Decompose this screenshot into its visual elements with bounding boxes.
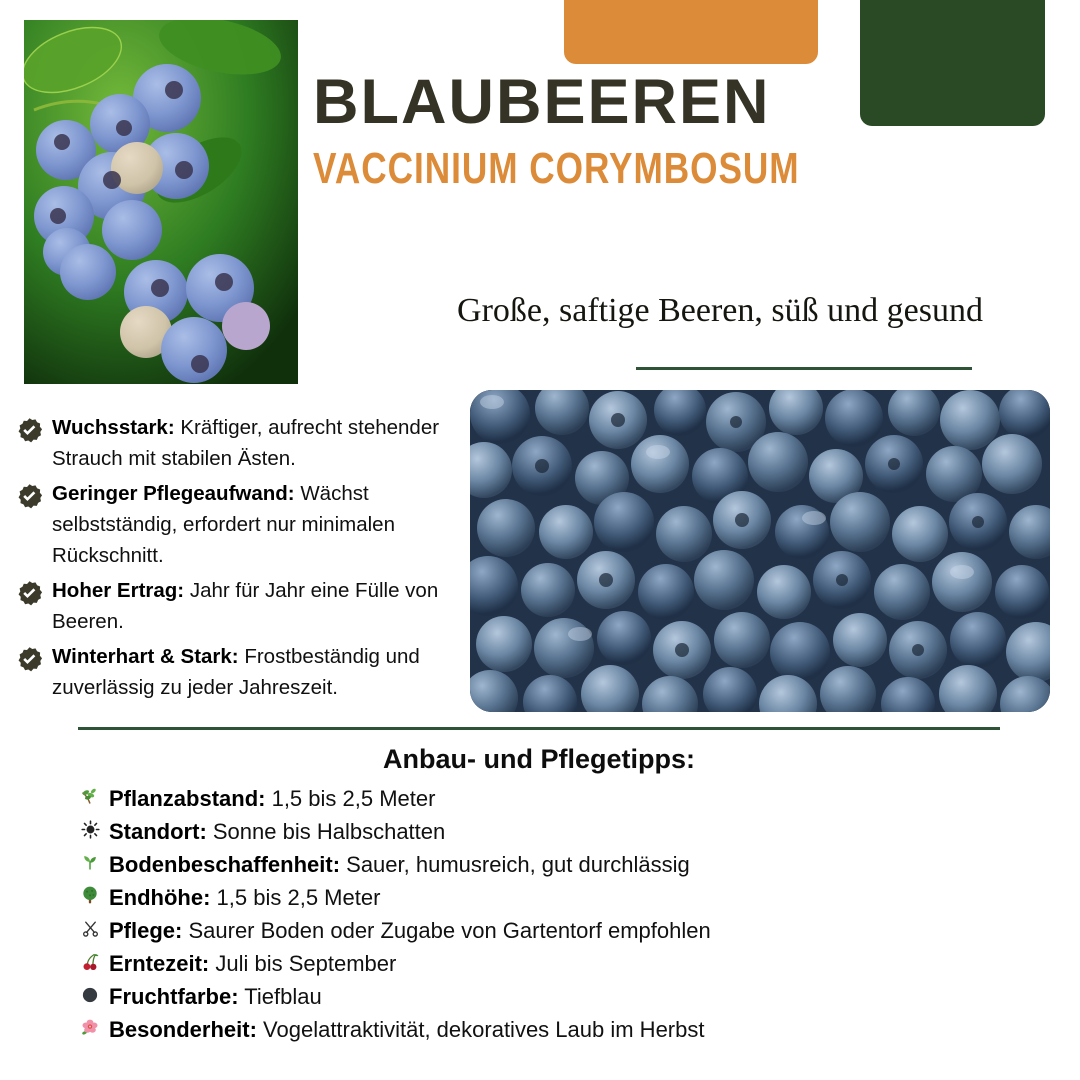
black-circle-icon [78,986,102,1008]
check-badge-icon [16,483,43,510]
tips-list: Pflanzabstand: 1,5 bis 2,5 Meter Standor… [78,782,1038,1046]
list-item-value: Sauer, humusreich, gut durchlässig [340,852,690,877]
list-item-text: Wuchsstark: Kräftiger, aufrecht stehende… [52,412,476,474]
list-item: Fruchtfarbe: Tiefblau [78,980,1038,1013]
list-item-text: Besonderheit: Vogelattraktivität, dekora… [109,1013,704,1046]
list-item-text: Standort: Sonne bis Halbschatten [109,815,445,848]
page-title: BLAUBEEREN [313,70,1053,134]
list-item-label: Geringer Pflegeaufwand: [52,482,295,505]
tips-title: Anbau- und Pflegetipps: [78,744,1000,775]
list-item: Besonderheit: Vogelattraktivität, dekora… [78,1013,1038,1046]
list-item-text: Erntezeit: Juli bis September [109,947,396,980]
tips-divider [78,727,1000,730]
list-item-label: Standort: [109,819,207,844]
list-item-text: Endhöhe: 1,5 bis 2,5 Meter [109,881,380,914]
list-item-label: Bodenbeschaffenheit: [109,852,340,877]
infographic-page: BLAUBEEREN VACCINIUM CORYMBOSUM Große, s… [0,0,1080,1080]
list-item-text: Bodenbeschaffenheit: Sauer, humusreich, … [109,848,690,881]
list-item-label: Pflanzabstand: [109,786,265,811]
check-badge-icon [16,417,43,444]
check-badge-icon [16,580,43,607]
list-item-text: Pflanzabstand: 1,5 bis 2,5 Meter [109,782,435,815]
list-item: Winterhart & Stark: Frostbeständig und z… [16,641,476,703]
list-item-text: Pflege: Saurer Boden oder Zugabe von Gar… [109,914,711,947]
list-item-value: Sonne bis Halbschatten [207,819,446,844]
list-item-label: Besonderheit: [109,1017,257,1042]
list-item-label: Endhöhe: [109,885,210,910]
list-item-label: Erntezeit: [109,951,209,976]
list-item-text: Winterhart & Stark: Frostbeständig und z… [52,641,476,703]
list-item: Geringer Pflegeaufwand: Wächst selbststä… [16,478,476,571]
list-item-value: Tiefblau [239,984,322,1009]
list-item: Bodenbeschaffenheit: Sauer, humusreich, … [78,848,1038,881]
list-item-label: Fruchtfarbe: [109,984,239,1009]
check-badge-icon [16,646,43,673]
list-item: Pflege: Saurer Boden oder Zugabe von Gar… [78,914,1038,947]
list-item-text: Fruchtfarbe: Tiefblau [109,980,322,1013]
list-item: Standort: Sonne bis Halbschatten [78,815,1038,848]
list-item: Erntezeit: Juli bis September [78,947,1038,980]
herb-icon [78,786,102,810]
list-item-value: Juli bis September [209,951,396,976]
list-item: Hoher Ertrag: Jahr für Jahr eine Fülle v… [16,575,476,637]
list-item: Endhöhe: 1,5 bis 2,5 Meter [78,881,1038,914]
page-subtitle: VACCINIUM CORYMBOSUM [313,146,905,192]
tree-icon [78,885,102,909]
list-item-value: 1,5 bis 2,5 Meter [210,885,380,910]
tagline: Große, saftige Beeren, süß und gesund [420,292,1020,330]
blueberries-photo [470,390,1050,712]
list-item-text: Geringer Pflegeaufwand: Wächst selbststä… [52,478,476,571]
decor-rect-orange [564,0,818,64]
blueberry-bush-photo [24,20,298,384]
list-item-label: Pflege: [109,918,182,943]
scissors-icon [78,919,102,942]
heading-block: BLAUBEEREN VACCINIUM CORYMBOSUM [313,70,1053,192]
list-item: Wuchsstark: Kräftiger, aufrecht stehende… [16,412,476,474]
list-item-value: Vogelattraktivität, dekoratives Laub im … [257,1017,705,1042]
list-item-label: Wuchsstark: [52,416,175,439]
list-item-value: 1,5 bis 2,5 Meter [265,786,435,811]
list-item-text: Hoher Ertrag: Jahr für Jahr eine Fülle v… [52,575,476,637]
list-item: Pflanzabstand: 1,5 bis 2,5 Meter [78,782,1038,815]
hibiscus-icon [78,1017,102,1041]
list-item-label: Winterhart & Stark: [52,645,239,668]
seedling-icon [78,852,102,876]
benefits-list: Wuchsstark: Kräftiger, aufrecht stehende… [16,412,476,707]
cherries-icon [78,952,102,975]
sun-icon [78,820,102,843]
list-item-label: Hoher Ertrag: [52,579,184,602]
tagline-divider [636,367,972,370]
list-item-value: Saurer Boden oder Zugabe von Gartentorf … [182,918,710,943]
